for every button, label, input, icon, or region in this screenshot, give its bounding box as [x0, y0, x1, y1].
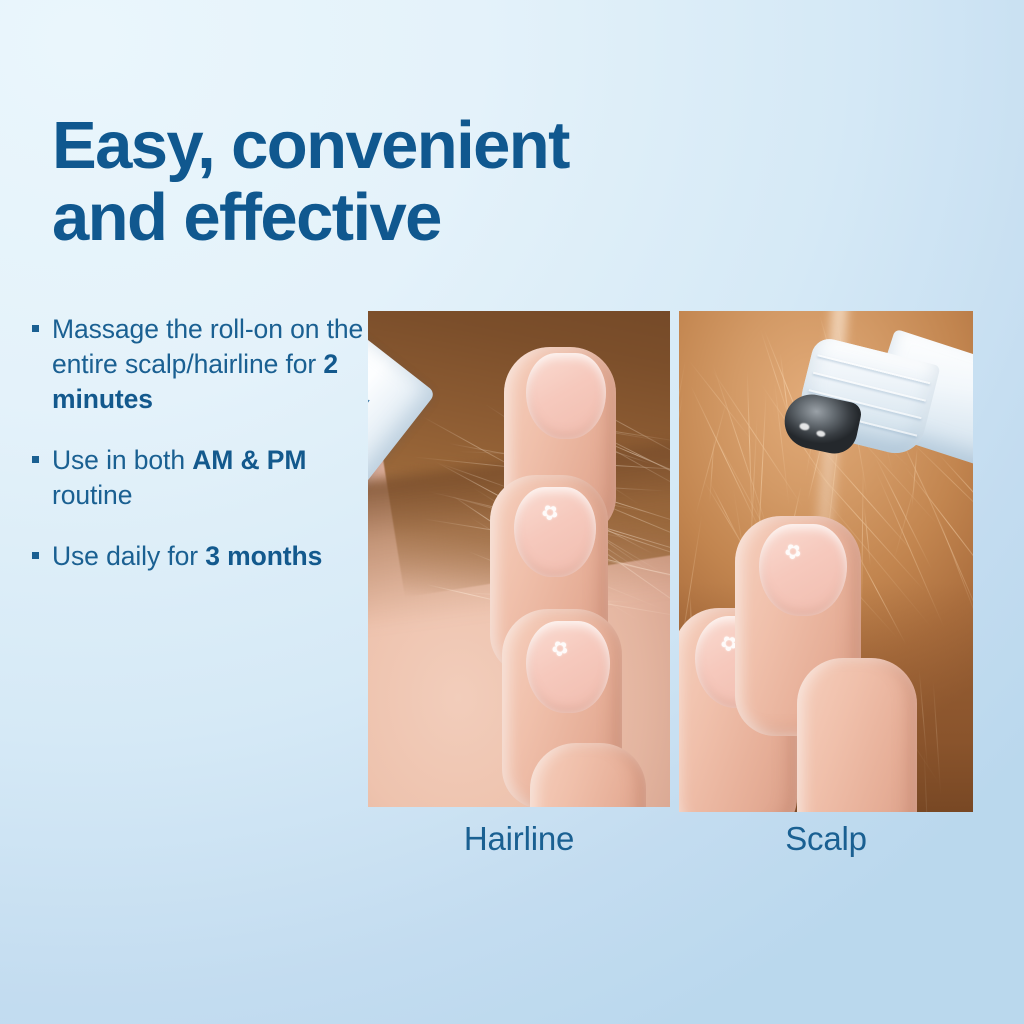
- headline-line-2: and effective: [52, 182, 692, 254]
- hair-strand: [694, 399, 727, 517]
- plain-text: Massage the roll-on on the entire scalp/…: [52, 314, 363, 379]
- fingernail: [526, 621, 610, 713]
- emphasis-text: AM & PM: [192, 445, 306, 475]
- ball-highlight: [799, 422, 810, 431]
- plain-text: Use in both: [52, 445, 192, 475]
- list-item: Use daily for 3 months: [30, 539, 370, 574]
- hand: ✿ ✿: [486, 347, 670, 807]
- caption-scalp: Scalp: [679, 820, 973, 858]
- ball-highlight: [816, 430, 826, 438]
- emphasis-text: 3 months: [205, 541, 322, 571]
- instructions-list: Massage the roll-on on the entire scalp/…: [30, 312, 370, 574]
- list-item: Use in both AM & PM routine: [30, 443, 370, 513]
- bullet-text-2: Use in both AM & PM routine: [52, 445, 306, 510]
- promo-canvas: Easy, convenient and effective Massage t…: [0, 0, 1024, 1024]
- bullet-square-icon: [32, 552, 39, 559]
- list-item: Massage the roll-on on the entire scalp/…: [30, 312, 370, 417]
- bullet-text-3: Use daily for 3 months: [52, 541, 322, 571]
- photo-panel-scalp: ✿ ✿ o: [679, 311, 973, 812]
- headline-line-1: Easy, convenient: [52, 110, 692, 182]
- fingernail: [514, 487, 596, 577]
- bullet-text-1: Massage the roll-on on the entire scalp/…: [52, 314, 363, 414]
- hair-strand: [679, 357, 687, 505]
- page-title: Easy, convenient and effective: [52, 110, 692, 255]
- finger: [530, 743, 646, 807]
- fingernail: [759, 524, 847, 616]
- finger: [797, 658, 917, 812]
- caption-hairline: Hairline: [368, 820, 670, 858]
- fingernail: [526, 353, 606, 439]
- plain-text: routine: [52, 480, 132, 510]
- bullet-square-icon: [32, 325, 39, 332]
- bullet-square-icon: [32, 456, 39, 463]
- plain-text: Use daily for: [52, 541, 205, 571]
- tube-brand-text: wise™: [368, 366, 373, 417]
- hand: ✿ ✿: [679, 512, 897, 812]
- photo-panel-hairline: ✿ ✿ wise™: [368, 311, 670, 807]
